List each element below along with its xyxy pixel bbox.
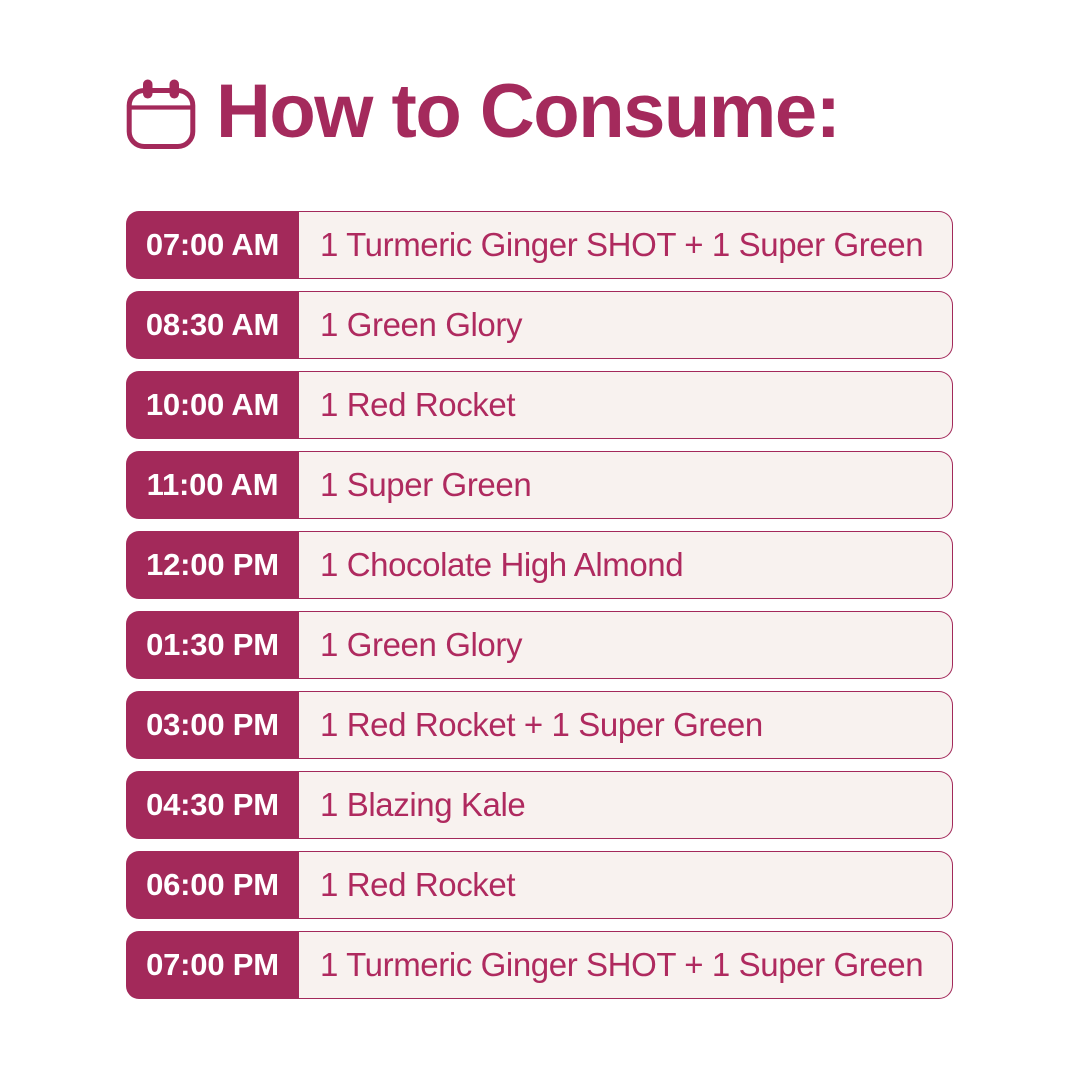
row-time-cell: 11:00 AM (126, 451, 299, 519)
table-row: 07:00 PM 1 Turmeric Ginger SHOT + 1 Supe… (126, 931, 953, 999)
row-item-label: 1 Green Glory (320, 308, 522, 341)
row-time-label: 10:00 AM (146, 389, 279, 420)
row-item-cell: 1 Green Glory (298, 611, 953, 679)
page-title: How to Consume: (216, 74, 839, 150)
row-time-label: 08:30 AM (146, 309, 279, 340)
row-time-label: 04:30 PM (146, 789, 279, 820)
row-item-label: 1 Chocolate High Almond (320, 548, 683, 581)
table-row: 12:00 PM 1 Chocolate High Almond (126, 531, 953, 599)
row-time-cell: 03:00 PM (126, 691, 299, 759)
table-row: 01:30 PM 1 Green Glory (126, 611, 953, 679)
row-item-label: 1 Turmeric Ginger SHOT + 1 Super Green (320, 228, 923, 261)
row-item-label: 1 Blazing Kale (320, 788, 525, 821)
row-item-cell: 1 Chocolate High Almond (298, 531, 953, 599)
calendar-icon (126, 78, 196, 150)
row-time-cell: 04:30 PM (126, 771, 299, 839)
table-row: 10:00 AM 1 Red Rocket (126, 371, 953, 439)
page-header: How to Consume: (126, 66, 839, 162)
row-item-cell: 1 Turmeric Ginger SHOT + 1 Super Green (298, 931, 953, 999)
table-row: 04:30 PM 1 Blazing Kale (126, 771, 953, 839)
table-row: 08:30 AM 1 Green Glory (126, 291, 953, 359)
row-item-cell: 1 Red Rocket (298, 851, 953, 919)
schedule-list: 07:00 AM 1 Turmeric Ginger SHOT + 1 Supe… (126, 211, 953, 999)
row-time-cell: 10:00 AM (126, 371, 299, 439)
row-time-cell: 06:00 PM (126, 851, 299, 919)
row-item-cell: 1 Red Rocket + 1 Super Green (298, 691, 953, 759)
row-time-cell: 08:30 AM (126, 291, 299, 359)
row-time-label: 11:00 AM (147, 469, 279, 500)
table-row: 06:00 PM 1 Red Rocket (126, 851, 953, 919)
row-item-label: 1 Red Rocket (320, 388, 515, 421)
row-item-cell: 1 Red Rocket (298, 371, 953, 439)
row-item-cell: 1 Turmeric Ginger SHOT + 1 Super Green (298, 211, 953, 279)
row-time-label: 07:00 PM (146, 949, 279, 980)
consumption-schedule-page: How to Consume: 07:00 AM 1 Turmeric Ging… (0, 0, 1080, 1080)
row-time-label: 06:00 PM (146, 869, 279, 900)
table-row: 11:00 AM 1 Super Green (126, 451, 953, 519)
row-time-cell: 12:00 PM (126, 531, 299, 599)
row-time-cell: 07:00 PM (126, 931, 299, 999)
row-item-label: 1 Green Glory (320, 628, 522, 661)
row-time-label: 01:30 PM (146, 629, 279, 660)
row-item-cell: 1 Green Glory (298, 291, 953, 359)
row-item-cell: 1 Super Green (298, 451, 953, 519)
row-item-label: 1 Red Rocket (320, 868, 515, 901)
table-row: 07:00 AM 1 Turmeric Ginger SHOT + 1 Supe… (126, 211, 953, 279)
row-time-label: 07:00 AM (146, 229, 279, 260)
row-item-label: 1 Turmeric Ginger SHOT + 1 Super Green (320, 948, 923, 981)
row-item-cell: 1 Blazing Kale (298, 771, 953, 839)
row-time-label: 03:00 PM (146, 709, 279, 740)
row-time-cell: 07:00 AM (126, 211, 299, 279)
row-time-cell: 01:30 PM (126, 611, 299, 679)
row-time-label: 12:00 PM (146, 549, 279, 580)
row-item-label: 1 Red Rocket + 1 Super Green (320, 708, 763, 741)
table-row: 03:00 PM 1 Red Rocket + 1 Super Green (126, 691, 953, 759)
row-item-label: 1 Super Green (320, 468, 531, 501)
